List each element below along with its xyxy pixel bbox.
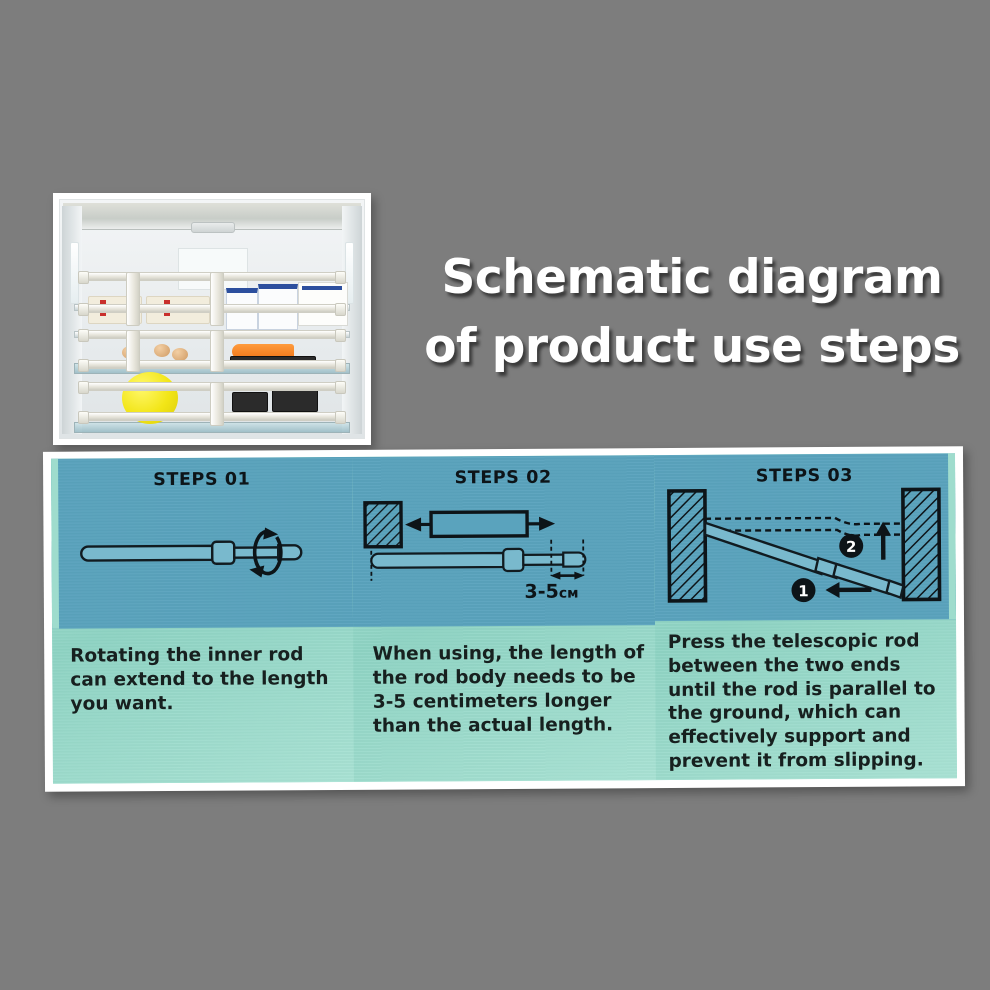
telescopic-rod-rotating-icon: [51, 489, 353, 609]
step-3-heading: STEPS 03: [654, 453, 956, 487]
step-2-caption: When using, the length of the rod body n…: [353, 625, 655, 782]
step-column-1: STEPS 01: [51, 457, 354, 784]
step-column-3: STEPS 03: [654, 453, 957, 780]
step-1-art: [51, 489, 353, 609]
panel-edge-sliver: [948, 453, 956, 619]
panel-edge-sliver: [51, 459, 59, 629]
food-item: [232, 392, 268, 412]
step-3-illustration-area: STEPS 03: [654, 453, 956, 621]
step-3-marker-1-label: 1: [798, 582, 809, 600]
fridge-wall-left: [62, 206, 82, 434]
food-item: [272, 388, 318, 412]
food-item: [154, 344, 170, 357]
step-1-illustration-area: STEPS 01: [51, 457, 353, 629]
wall-block-left: [365, 503, 401, 547]
tension-rod-vertical: [210, 330, 224, 372]
screenshot-root: Schematic diagram of product use steps S…: [0, 0, 990, 990]
page-title-line-2: of product use steps: [418, 312, 966, 381]
wall-left: [669, 491, 706, 601]
step-3-caption: Press the telescopic rod between the two…: [655, 619, 957, 780]
step-3-marker-2: 2: [839, 522, 891, 560]
step-2-illustration-area: STEPS 02: [352, 455, 654, 627]
step-1-heading: STEPS 01: [51, 457, 353, 491]
svg-text:3-5см: 3-5см: [525, 581, 579, 603]
product-photo: [59, 199, 365, 439]
tension-rod-vertical: [126, 330, 140, 372]
step-3-art: 2 1: [654, 485, 956, 605]
wall-right: [903, 489, 940, 599]
step-3-marker-2-label: 2: [846, 538, 857, 556]
tension-rod-vertical: [210, 272, 224, 326]
step-2-art: 3-5см: [353, 487, 655, 607]
steps-panel-inner: STEPS 01: [51, 453, 957, 784]
food-item: [302, 286, 342, 290]
page-title-line-1: Schematic diagram: [418, 243, 966, 312]
step-1-caption: Rotating the inner rod can extend to the…: [52, 627, 354, 784]
tension-rod-vertical: [210, 382, 224, 426]
rod-pressed-between-walls-icon: 2 1: [654, 485, 956, 605]
rod-length-measurement-icon: 3-5см: [353, 487, 655, 607]
product-photo-card: [53, 193, 371, 445]
step-2-measure-unit: см: [559, 586, 579, 602]
page-title: Schematic diagram of product use steps: [418, 243, 966, 381]
steps-panel: STEPS 01: [43, 446, 965, 792]
step-2-heading: STEPS 02: [352, 455, 654, 489]
ceiling-vent: [191, 222, 235, 233]
step-2-measure-value: 3-5: [525, 581, 559, 603]
step-column-2: STEPS 02: [352, 455, 655, 782]
tension-rod-vertical: [126, 272, 140, 326]
